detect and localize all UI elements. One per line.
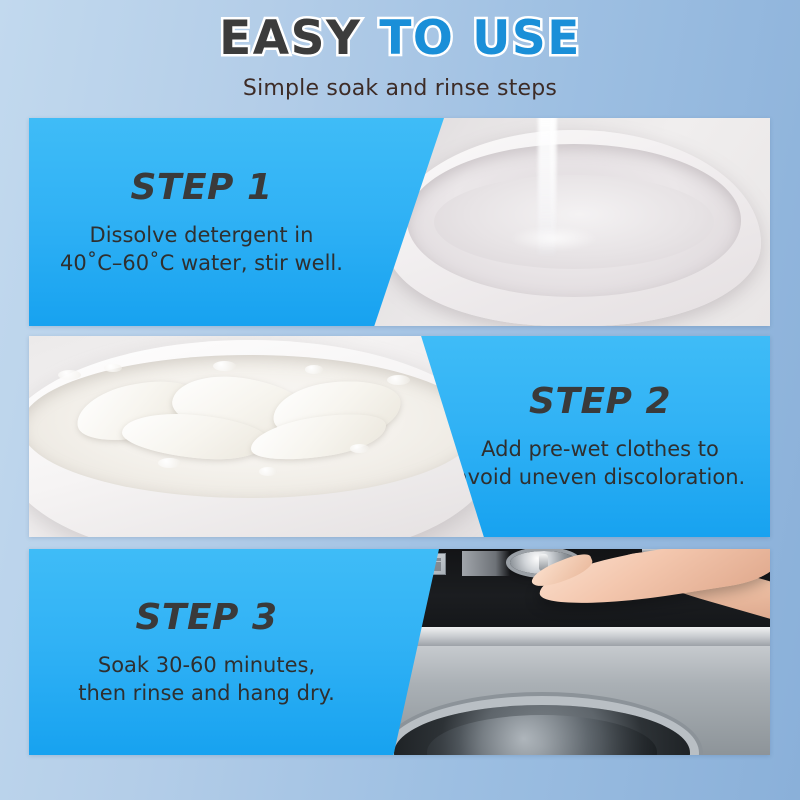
page-title: EASY TO USE: [219, 14, 581, 65]
step-2-title: STEP 2: [529, 381, 671, 422]
soaking-basin: [29, 340, 498, 537]
bubble-icon: [350, 444, 368, 453]
step-1-title: STEP 1: [130, 167, 272, 208]
bubble-icon: [158, 458, 181, 468]
bubble-icon: [305, 365, 323, 374]
water-splash: [510, 226, 598, 251]
machine-door-glass: [427, 715, 658, 755]
soap-foam: [29, 355, 478, 498]
bubble-icon: [387, 375, 410, 385]
title-word-easy: EASY: [219, 11, 361, 66]
bubble-icon: [104, 364, 122, 373]
step-3-description: Soak 30-60 minutes, then rinse and hang …: [78, 652, 335, 707]
step-1-panel: STEP 1 Dissolve detergent in 40˚C–60˚C w…: [29, 118, 444, 326]
basin-inner: [407, 144, 741, 297]
step-section-3: - 800 0:05 STEP 3 Soak 30-60 minutes, th…: [29, 549, 770, 755]
title-word-touse: TO USE: [379, 11, 581, 66]
step-3-title: STEP 3: [135, 597, 277, 638]
water-stream-highlight-icon: [550, 118, 557, 239]
machine-body: [370, 646, 770, 755]
basin-water: [434, 175, 714, 270]
infographic-header: EASY TO USE Simple soak and rinse steps: [0, 0, 800, 118]
machine-door[interactable]: [394, 705, 690, 755]
bubble-icon: [58, 370, 81, 380]
step-section-2: STEP 2 Add pre-wet clothes to avoid unev…: [29, 336, 770, 537]
step-2-photo: [29, 336, 489, 537]
step-2-description: Add pre-wet clothes to avoid uneven disc…: [455, 436, 745, 491]
bubble-icon: [259, 467, 277, 476]
step-1-description: Dissolve detergent in 40˚C–60˚C water, s…: [60, 222, 343, 277]
bubble-icon: [213, 361, 236, 371]
machine-program-list: [462, 551, 510, 576]
step-3-panel: STEP 3 Soak 30-60 minutes, then rinse an…: [29, 549, 439, 755]
page-subtitle: Simple soak and rinse steps: [243, 76, 557, 101]
step-section-1: STEP 1 Dissolve detergent in 40˚C–60˚C w…: [29, 118, 770, 326]
machine-trim-bar: [370, 627, 770, 646]
